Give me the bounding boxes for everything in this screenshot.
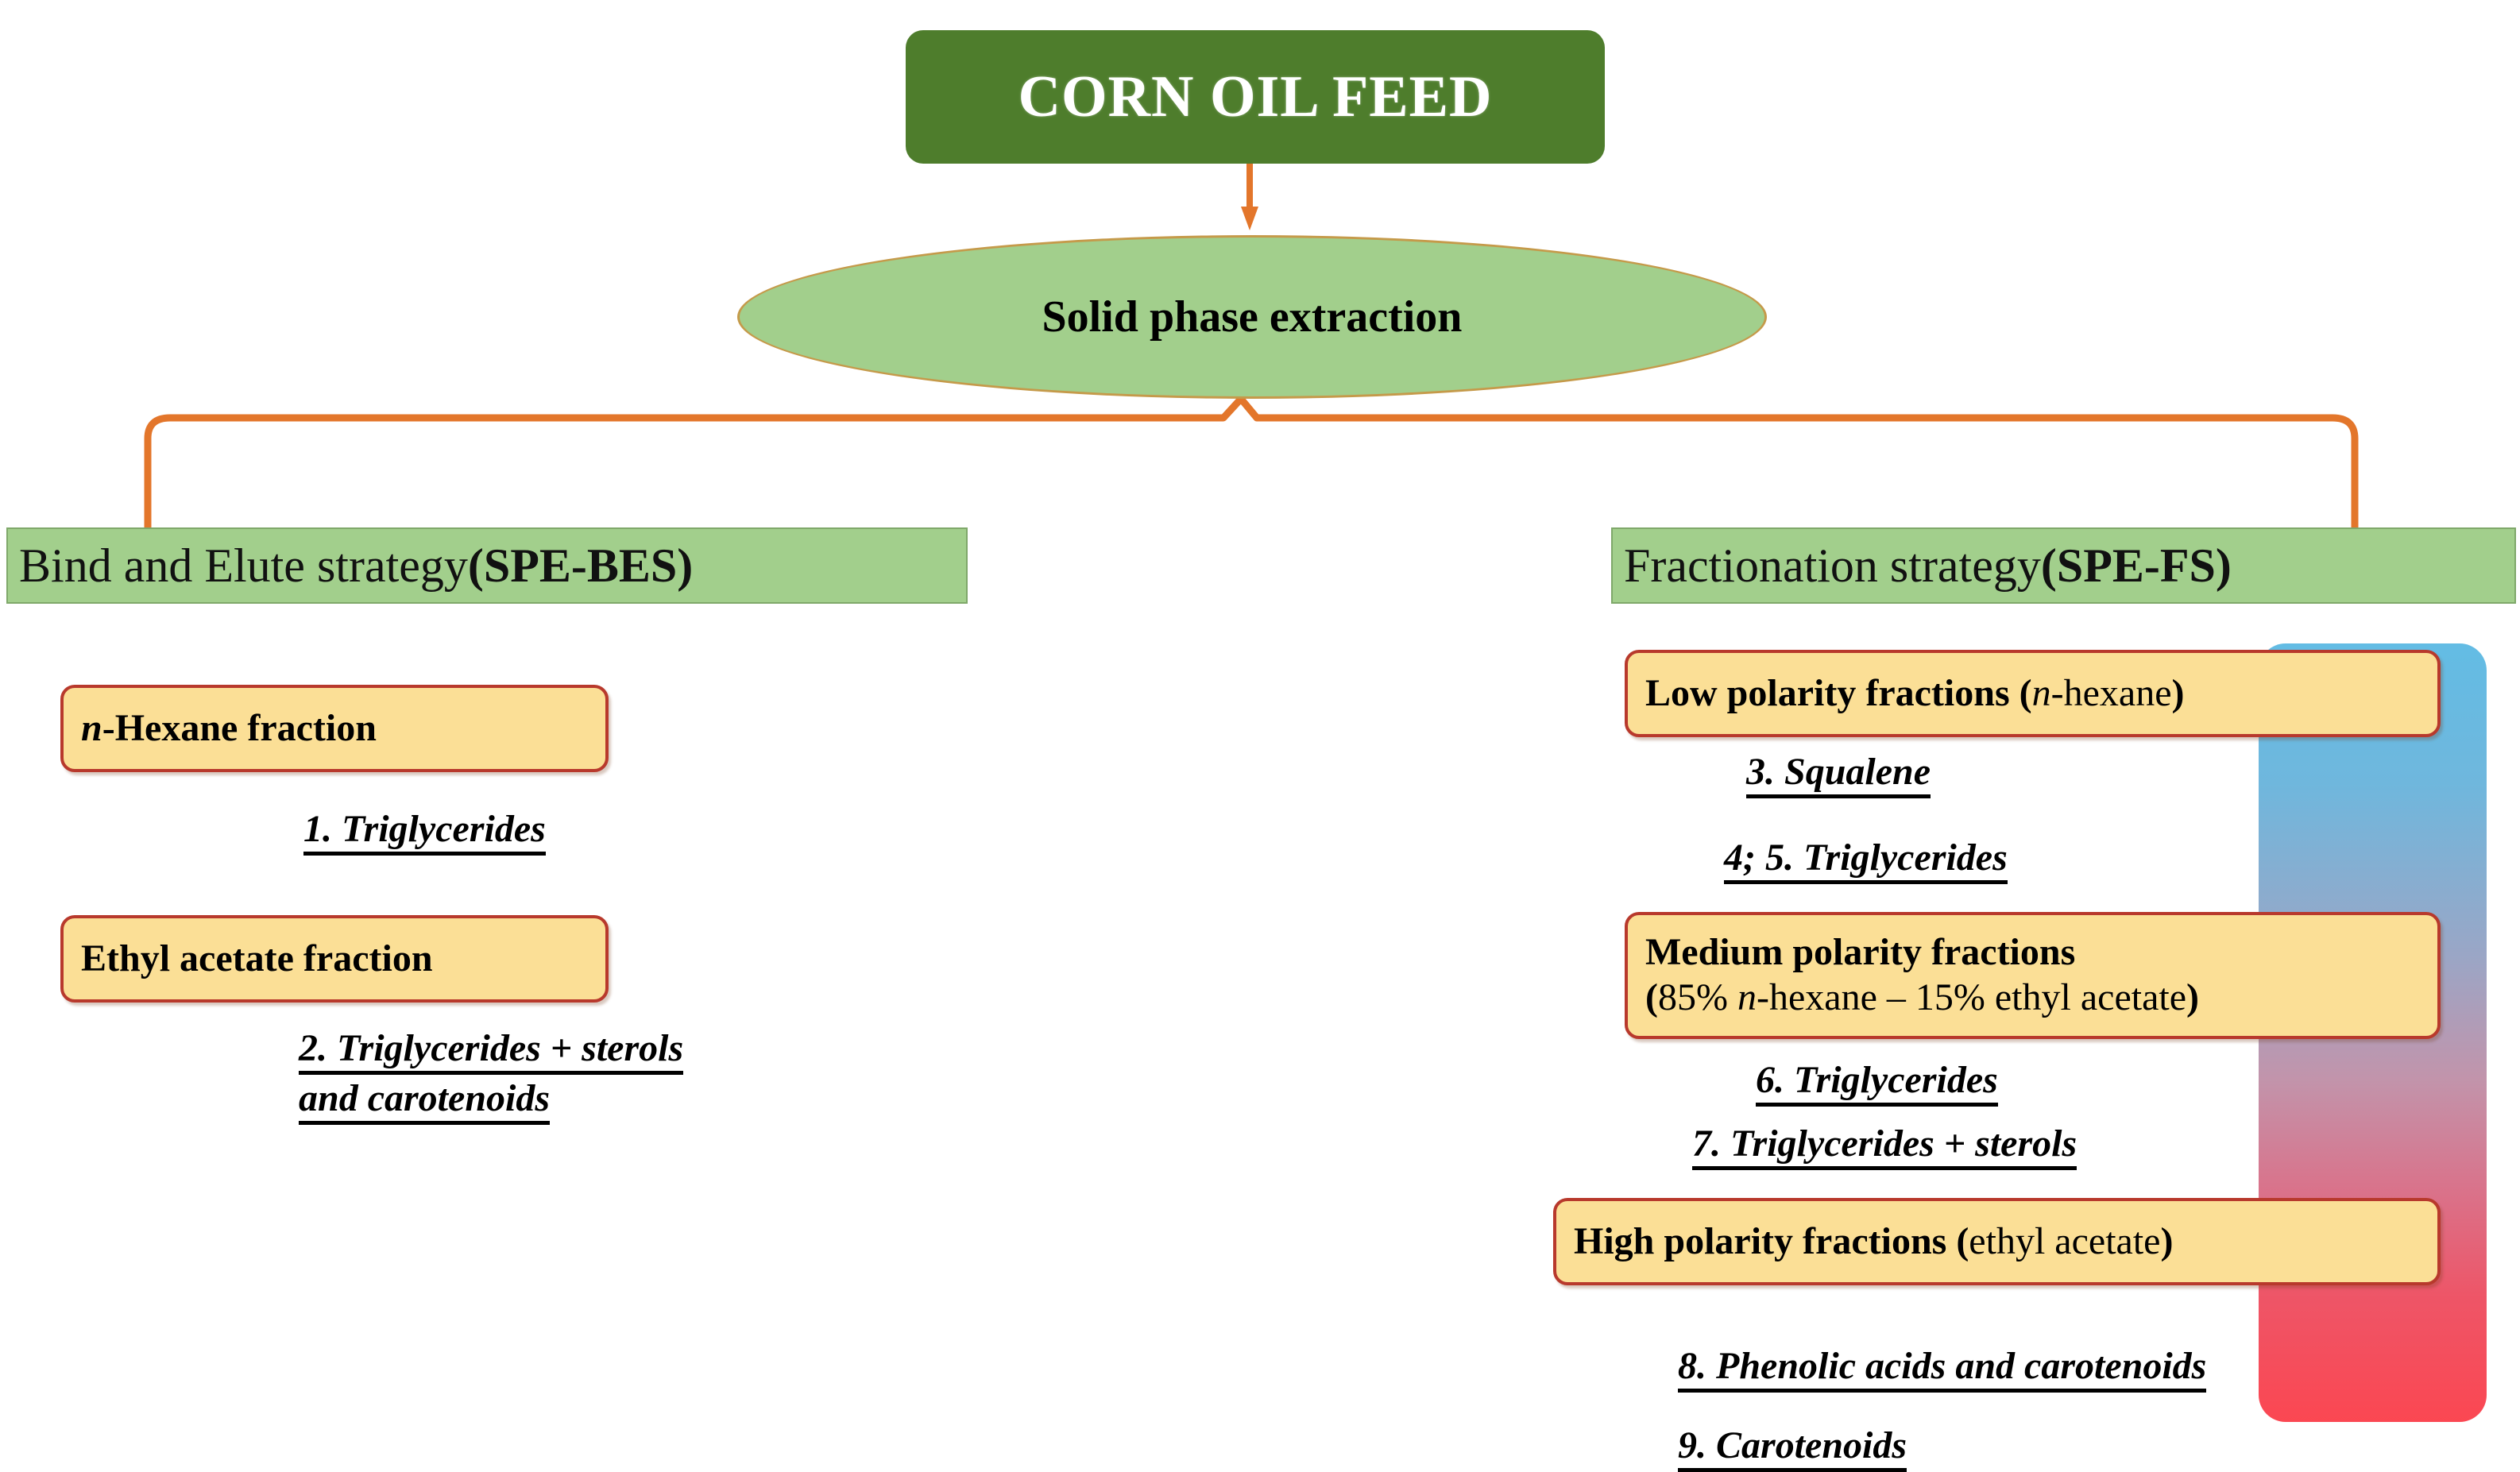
strategy-bes-name: Bind and Elute strategy [19, 542, 468, 589]
solvent-name: ethyl acetate [1969, 1220, 2160, 1262]
bracket-svg [135, 397, 2367, 532]
strategy-header-fs: Fractionation strategy (SPE-FS) [1611, 527, 2516, 604]
result-item-8: 8. Phenolic acids and carotenoids [1678, 1341, 2206, 1391]
result-line: 8. Phenolic acids and carotenoids [1678, 1341, 2206, 1391]
fraction-box-high-polarity: High polarity fractions (ethyl acetate) [1553, 1198, 2441, 1285]
fraction-box-n-hexane-text: n-Hexane fraction [81, 706, 588, 751]
result-line: 3. Squalene [1746, 747, 1931, 797]
paren-close: ) [2186, 976, 2199, 1018]
diagram-canvas: CORN OIL FEED Solid phase extraction Bin… [0, 0, 2520, 1459]
result-line: 2. Triglycerides + sterols [299, 1023, 683, 1073]
high-polarity-bold: High polarity fractions [1574, 1220, 1956, 1262]
result-item-6: 6. Triglycerides [1756, 1055, 1998, 1105]
fraction-box-high-polarity-text: High polarity fractions (ethyl acetate) [1574, 1219, 2420, 1265]
result-item-4-5: 4; 5. Triglycerides [1724, 833, 2008, 883]
low-polarity-bold: Low polarity fractions [1645, 672, 2019, 714]
fraction-box-n-hexane: n-Hexane fraction [60, 685, 609, 772]
result-item-2: 2. Triglycerides + sterols and carotenoi… [299, 1023, 683, 1124]
strategy-header-bes: Bind and Elute strategy (SPE-BES) [6, 527, 968, 604]
arrow-head [1241, 207, 1258, 230]
pct-first: 85% [1658, 976, 1737, 1018]
result-line: 9. Carotenoids [1678, 1420, 1907, 1470]
solvent-mix: -hexane – 15% ethyl acetate [1757, 976, 2186, 1018]
italic-n-prefix: n [2032, 672, 2051, 714]
paren-close: ) [2172, 672, 2185, 714]
corn-oil-feed-label: CORN OIL FEED [1018, 64, 1493, 131]
fraction-box-medium-polarity: Medium polarity fractions (85% n-hexane … [1625, 912, 2441, 1039]
arrow-shaft [1246, 164, 1253, 213]
solid-phase-extraction-label: Solid phase extraction [1042, 292, 1463, 342]
result-item-7: 7. Triglycerides + sterols [1692, 1118, 2077, 1169]
result-line: and carotenoids [299, 1073, 683, 1123]
paren-open: ( [2019, 672, 2032, 714]
fraction-box-ethyl-acetate: Ethyl acetate fraction [60, 915, 609, 1003]
corn-oil-feed-box: CORN OIL FEED [906, 30, 1605, 164]
result-line: 4; 5. Triglycerides [1724, 833, 2008, 883]
fraction-label: Ethyl acetate fraction [81, 937, 433, 979]
medium-polarity-line1: Medium polarity fractions [1645, 930, 2420, 976]
medium-polarity-line2: (85% n-hexane – 15% ethyl acetate) [1645, 976, 2420, 1021]
result-line: 7. Triglycerides + sterols [1692, 1118, 2077, 1169]
fraction-box-ethyl-acetate-text: Ethyl acetate fraction [81, 937, 588, 982]
paren-open: ( [1956, 1220, 1969, 1262]
result-line: 6. Triglycerides [1756, 1055, 1998, 1105]
paren-close: ) [2160, 1220, 2173, 1262]
solvent-name: -hexane [2051, 672, 2172, 714]
result-item-9: 9. Carotenoids [1678, 1420, 1907, 1470]
strategy-fs-abbrev: (SPE-FS) [2041, 542, 2232, 589]
result-item-3: 3. Squalene [1746, 747, 1931, 797]
arrow-down-icon [1241, 164, 1258, 230]
fraction-box-low-polarity: Low polarity fractions (n-hexane) [1625, 650, 2441, 737]
fraction-box-low-polarity-text: Low polarity fractions (n-hexane) [1645, 671, 2420, 717]
fraction-label: -Hexane fraction [102, 707, 377, 749]
result-line: 1. Triglycerides [303, 804, 546, 854]
strategy-bes-abbrev: (SPE-BES) [468, 542, 693, 589]
bracket-connector [135, 397, 2367, 532]
italic-n-prefix: n [1737, 976, 1757, 1018]
solid-phase-extraction-node: Solid phase extraction [737, 235, 1767, 399]
result-item-1: 1. Triglycerides [303, 804, 546, 854]
paren-open: ( [1645, 976, 1658, 1018]
strategy-fs-name: Fractionation strategy [1624, 542, 2041, 589]
italic-n-prefix: n [81, 707, 102, 749]
